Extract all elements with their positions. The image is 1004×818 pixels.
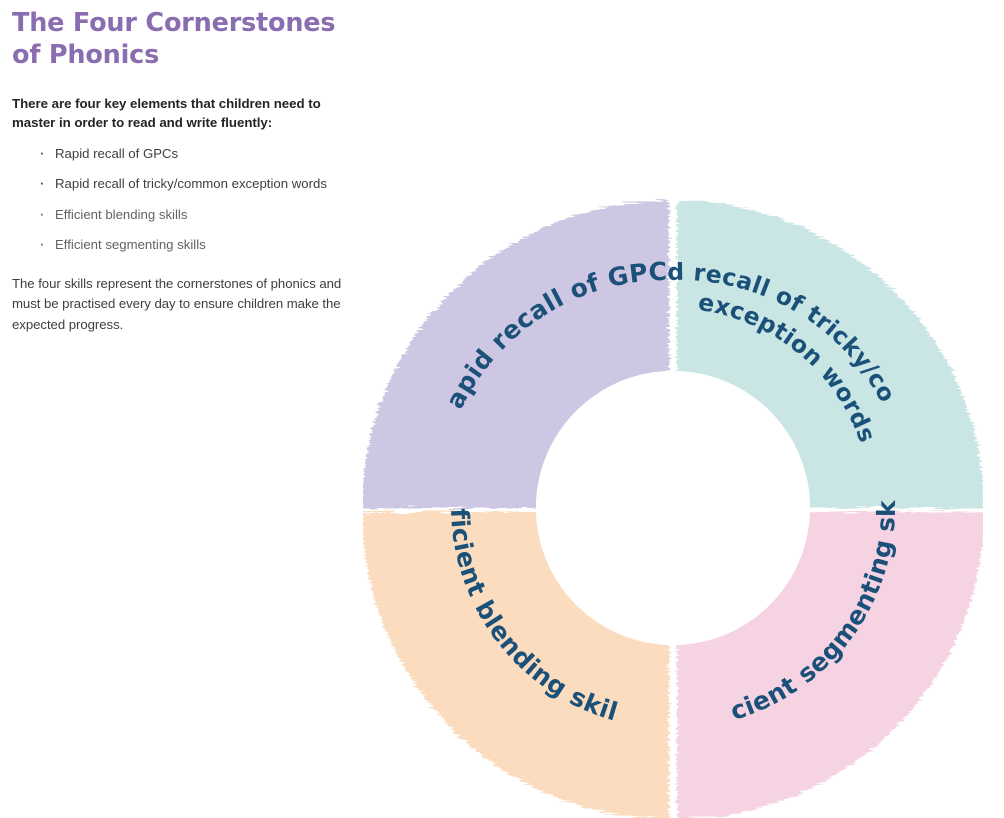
donut-chart: Rapid recall of GPCs Rapid recall of tri… — [363, 198, 983, 818]
intro-text-column: The Four Cornerstones of Phonics There a… — [12, 0, 342, 335]
page-title: The Four Cornerstones of Phonics — [12, 0, 342, 72]
list-item: Rapid recall of tricky/common exception … — [12, 174, 342, 193]
donut-center-hole — [537, 372, 809, 644]
closing-paragraph: The four skills represent the cornerston… — [12, 265, 342, 335]
list-item: Rapid recall of GPCs — [12, 144, 342, 163]
list-item: Efficient blending skills — [12, 205, 342, 224]
list-item: Efficient segmenting skills — [12, 235, 342, 254]
cornerstones-donut-diagram: Rapid recall of GPCs Rapid recall of tri… — [363, 198, 983, 818]
intro-paragraph: There are four key elements that childre… — [12, 72, 342, 133]
skills-list: Rapid recall of GPCs Rapid recall of tri… — [12, 133, 342, 254]
